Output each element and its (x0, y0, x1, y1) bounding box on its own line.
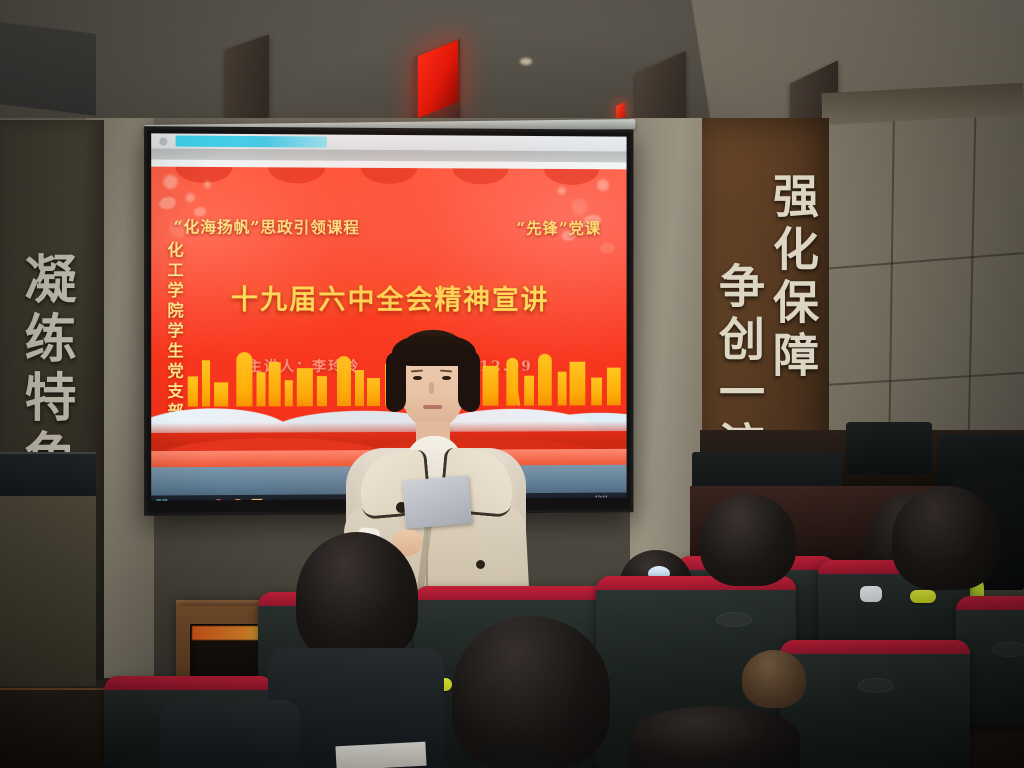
audience-head (452, 616, 610, 768)
app-icon (159, 137, 167, 145)
left-counter-body (0, 496, 96, 686)
seat-headrest (104, 676, 274, 690)
speaker-nose (429, 382, 434, 394)
slide-curtain-valance (151, 167, 626, 221)
audience-head (296, 532, 418, 662)
seat[interactable] (780, 640, 970, 768)
face-mask (860, 586, 882, 602)
speaker-eye (442, 376, 451, 380)
left-counter-top (0, 452, 96, 500)
audience-head (742, 650, 806, 708)
ceiling-spotlight (520, 58, 532, 65)
lecture-hall-photo: 凝练特色 强化保障 争创一流 (0, 0, 1024, 768)
slide-main-title: 十九届六中全会精神宣讲 (151, 278, 626, 317)
seat-headrest (780, 640, 970, 654)
audience-head (628, 706, 800, 768)
seat-handle (716, 612, 752, 627)
speaker-paper-sheet (402, 475, 472, 529)
slide-header-right: “先锋”党课 (516, 216, 601, 238)
seat-headrest (956, 596, 1024, 610)
app-tab-highlight[interactable] (176, 136, 327, 148)
audience-head (700, 494, 796, 586)
right-equipment-block-2 (846, 422, 932, 474)
speaker-coat-button (476, 560, 485, 569)
seat-number-badge (910, 590, 936, 603)
audience-body (160, 700, 300, 768)
ceiling-left-panel (0, 22, 96, 116)
speaker-hair-side (386, 352, 406, 412)
seat-handle (992, 642, 1024, 657)
audience-head (892, 486, 1000, 590)
seat-handle (858, 678, 894, 693)
paper-on-desk (335, 742, 426, 768)
ceiling-slat (225, 34, 269, 131)
seat-headrest (414, 586, 610, 600)
speaker-mouth (423, 405, 442, 409)
speaker-hair-side (458, 350, 480, 412)
speaker-eye (413, 376, 422, 380)
slide-header-left: “化海扬帆”思政引领课程 (174, 215, 360, 238)
